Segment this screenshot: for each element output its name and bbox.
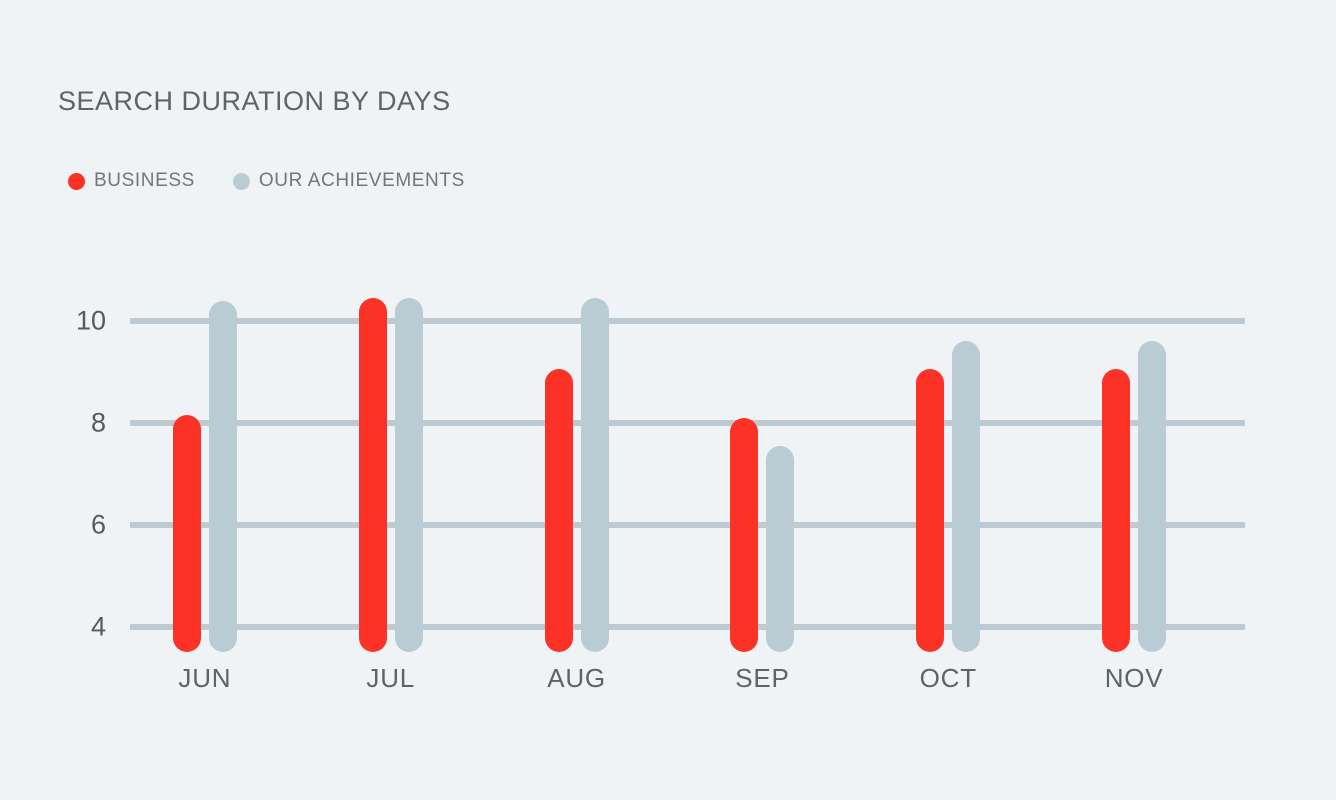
bar[interactable] bbox=[359, 298, 387, 652]
x-tick-label: JUN bbox=[178, 663, 231, 694]
y-tick-label: 10 bbox=[76, 308, 106, 335]
plot-area: 10864 JUNJULAUGSEPOCTNOV bbox=[130, 260, 1245, 652]
legend-dot-icon bbox=[233, 173, 250, 190]
bar[interactable] bbox=[209, 301, 237, 652]
legend-item-label: BUSINESS bbox=[94, 170, 195, 192]
x-tick-label: SEP bbox=[735, 663, 789, 694]
gridline bbox=[130, 624, 1245, 630]
gridline bbox=[130, 522, 1245, 528]
y-tick-label: 6 bbox=[91, 511, 106, 538]
legend-item-label: OUR ACHIEVEMENTS bbox=[259, 170, 465, 192]
bar[interactable] bbox=[916, 369, 944, 652]
page-title: SEARCH DURATION BY DAYS bbox=[58, 86, 451, 117]
legend-dot-icon bbox=[68, 173, 85, 190]
x-tick-label: NOV bbox=[1105, 663, 1164, 694]
x-tick-label: JUL bbox=[366, 663, 415, 694]
bar[interactable] bbox=[730, 418, 758, 652]
bar[interactable] bbox=[952, 341, 980, 652]
chart-container: SEARCH DURATION BY DAYS BUSINESS OUR ACH… bbox=[0, 0, 1336, 800]
bar[interactable] bbox=[173, 415, 201, 652]
x-tick-label: OCT bbox=[920, 663, 977, 694]
gridline bbox=[130, 318, 1245, 324]
bar[interactable] bbox=[1138, 341, 1166, 652]
bar[interactable] bbox=[545, 369, 573, 652]
bar[interactable] bbox=[395, 298, 423, 652]
gridline bbox=[130, 420, 1245, 426]
legend-item-our-achievements[interactable]: OUR ACHIEVEMENTS bbox=[233, 168, 465, 194]
bar[interactable] bbox=[581, 298, 609, 652]
bar[interactable] bbox=[1102, 369, 1130, 652]
x-tick-label: AUG bbox=[547, 663, 606, 694]
y-tick-label: 8 bbox=[91, 409, 106, 436]
y-tick-label: 4 bbox=[91, 613, 106, 640]
legend-item-business[interactable]: BUSINESS bbox=[68, 168, 195, 194]
bar[interactable] bbox=[766, 446, 794, 652]
chart-legend: BUSINESS OUR ACHIEVEMENTS bbox=[68, 168, 465, 194]
